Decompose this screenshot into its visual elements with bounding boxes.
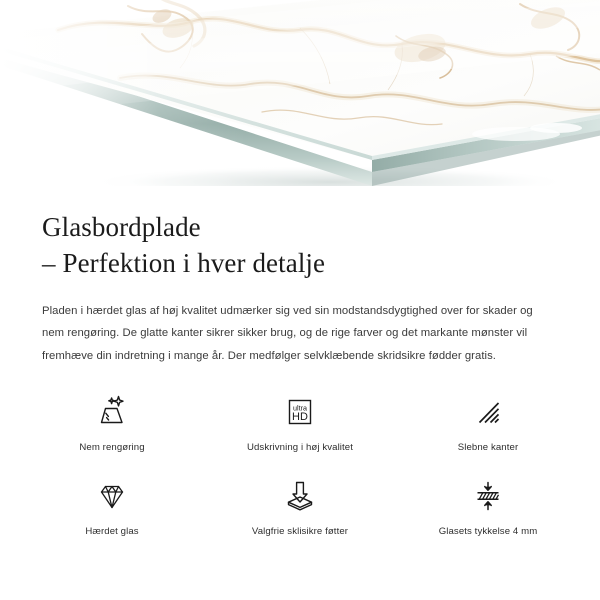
diamond-icon [92, 474, 132, 518]
feature-item-anti-slip-feet: Valgfrie sklisikre føtter [206, 474, 394, 558]
glass-tabletop-marble-photo [0, 0, 600, 200]
feature-item-tempered-glass: Hærdet glas [18, 474, 206, 558]
feature-label: Valgfrie sklisikre føtter [252, 526, 348, 537]
feature-label: Slebne kanter [458, 442, 519, 453]
feature-label: Hærdet glas [85, 526, 138, 537]
page-title-line-2: – Perfektion i hver detalje [42, 246, 558, 282]
product-description-page: Glasbordplade – Perfektion i hver detalj… [0, 0, 600, 600]
thickness-icon [468, 474, 508, 518]
page-title: Glasbordplade – Perfektion i hver detalj… [42, 200, 558, 282]
polished-edge-icon [468, 390, 508, 434]
ultra-hd-icon: ultra HD [280, 390, 320, 434]
page-title-line-1: Glasbordplade [42, 210, 558, 246]
ultra-hd-badge-bottom: HD [292, 411, 308, 423]
sparkle-plate-icon [92, 390, 132, 434]
text-content: Glasbordplade – Perfektion i hver detalj… [0, 200, 600, 368]
hero-image [0, 0, 600, 200]
feature-item-polished-edges: Slebne kanter [394, 390, 582, 474]
feature-label: Glasets tykkelse 4 mm [439, 526, 538, 537]
feature-item-easy-cleaning: Nem rengøring [18, 390, 206, 474]
product-description-paragraph: Pladen i hærdet glas af høj kvalitet udm… [42, 282, 558, 368]
anti-slip-foot-icon [280, 474, 320, 518]
feature-item-ultra-hd: ultra HD Udskrivning i høj kvalitet [206, 390, 394, 474]
feature-grid: Nem rengøring ultra HD Udskrivning i høj… [0, 368, 600, 558]
feature-label: Udskrivning i høj kvalitet [247, 442, 353, 453]
feature-item-glass-thickness: Glasets tykkelse 4 mm [394, 474, 582, 558]
feature-label: Nem rengøring [79, 442, 144, 453]
